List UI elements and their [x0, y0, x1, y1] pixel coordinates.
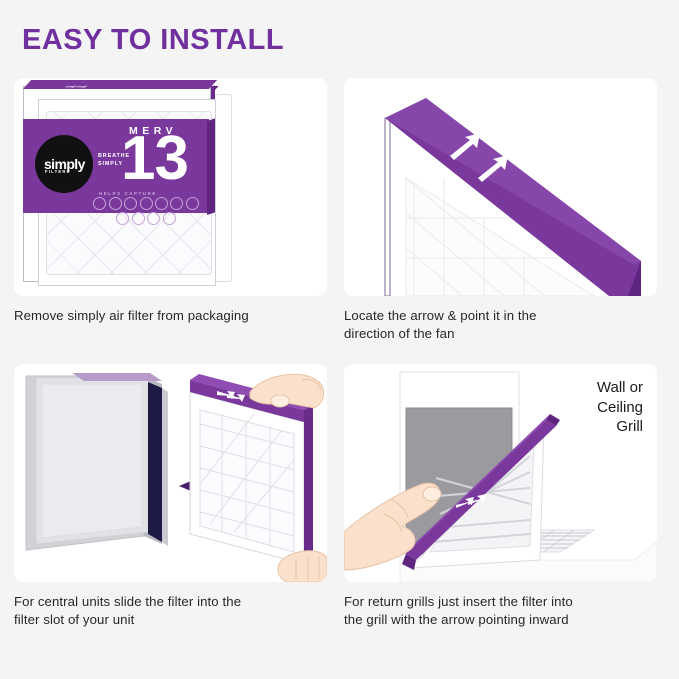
helps-capture-label: HELPS CAPTURE — [99, 191, 157, 196]
smoke-icon — [140, 197, 153, 210]
arrow-edge-svg — [344, 78, 657, 296]
product-box-illustration: ⟶⟶ simply FILTERS BREATHE SIMPLY MERV 13 — [14, 78, 327, 296]
hvac-unit — [26, 373, 168, 550]
arrow-edge-illustration — [344, 78, 657, 296]
step-2-caption-line-2: direction of the fan — [344, 325, 656, 343]
lint-icon — [132, 212, 145, 225]
step-2-caption: Locate the arrow & point it in the direc… — [344, 307, 656, 342]
callout-line-3: Grill — [597, 417, 643, 437]
step-2: Locate the arrow & point it in the direc… — [344, 78, 674, 330]
step-2-caption-line-1: Locate the arrow & point it in the — [344, 307, 656, 325]
hand-top — [250, 374, 324, 408]
box-top-purple-edge: ⟶⟶ — [23, 80, 217, 89]
dust-mite-icon — [155, 197, 168, 210]
central-unit-svg — [14, 364, 327, 582]
steps-grid: ⟶⟶ simply FILTERS BREATHE SIMPLY MERV 13 — [14, 78, 666, 673]
step-4-caption-line-1: For return grills just insert the filter… — [344, 593, 656, 611]
step-1: ⟶⟶ simply FILTERS BREATHE SIMPLY MERV 13 — [14, 78, 344, 330]
step-4-illustration-card: Wall or Ceiling Grill — [344, 364, 657, 582]
pet-dander-icon — [186, 197, 199, 210]
bacteria-icon — [109, 197, 122, 210]
step-2-illustration-card — [344, 78, 657, 296]
wall-ceiling-grill-callout: Wall or Ceiling Grill — [597, 378, 643, 437]
step-4-caption: For return grills just insert the filter… — [344, 593, 656, 628]
step-4: Wall or Ceiling Grill For return grills … — [344, 364, 674, 616]
filter-side-purple-frame — [304, 404, 313, 564]
callout-line-1: Wall or — [597, 378, 643, 398]
central-unit-illustration — [14, 364, 327, 582]
step-1-caption-line-1: Remove simply air filter from packaging — [14, 307, 326, 325]
unit-filter-slot — [72, 373, 162, 381]
unit-slot-opening — [148, 382, 162, 542]
step-1-illustration-card: ⟶⟶ simply FILTERS BREATHE SIMPLY MERV 13 — [14, 78, 327, 296]
step-3-caption-line-2: filter slot of your unit — [14, 611, 326, 629]
virus-icon — [93, 197, 106, 210]
helps-capture-icon-row — [87, 197, 205, 225]
callout-line-2: Ceiling — [597, 398, 643, 418]
page-title: EASY TO INSTALL — [22, 24, 284, 57]
step-3-illustration-card — [14, 364, 327, 582]
step-3-caption: For central units slide the filter into … — [14, 593, 326, 628]
box-label-side-shadow — [207, 118, 215, 215]
frame-left-edge — [385, 118, 390, 296]
merv-value: 13 — [121, 130, 188, 188]
easy-to-install-infographic: EASY TO INSTALL ⟶⟶ — [0, 0, 679, 679]
logo-brand-sub: FILTERS — [45, 169, 71, 174]
mold-icon — [170, 197, 183, 210]
step-3-caption-line-1: For central units slide the filter into … — [14, 593, 326, 611]
step-1-caption: Remove simply air filter from packaging — [14, 307, 326, 325]
step-4-caption-line-2: the grill with the arrow pointing inward — [344, 611, 656, 629]
particle-icon — [163, 212, 176, 225]
return-grill-illustration: Wall or Ceiling Grill — [344, 364, 657, 582]
pollen-icon — [124, 197, 137, 210]
box-purple-label-band: simply FILTERS BREATHE SIMPLY MERV 13 HE… — [23, 119, 209, 213]
simply-filters-logo: simply FILTERS — [35, 135, 93, 193]
step-3: For central units slide the filter into … — [14, 364, 344, 616]
allergen-icon — [116, 212, 129, 225]
odor-icon — [147, 212, 160, 225]
